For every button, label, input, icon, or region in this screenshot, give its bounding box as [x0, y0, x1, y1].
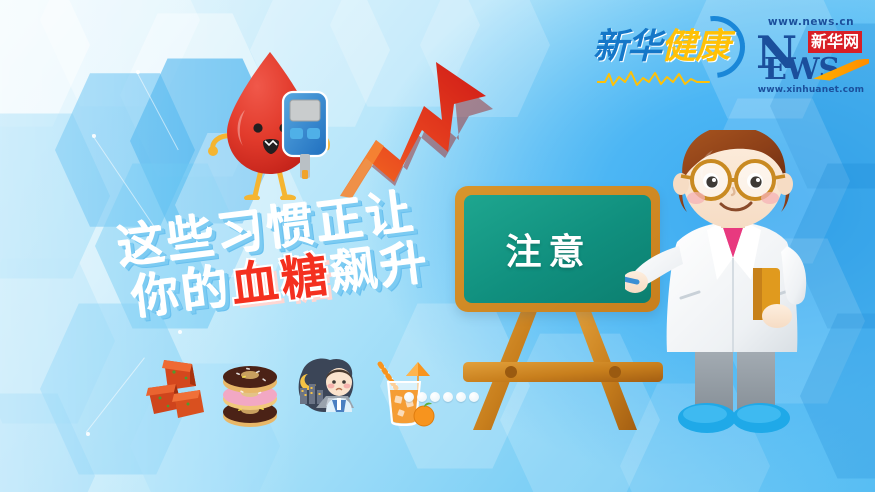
ellipsis-dots [404, 392, 479, 402]
donuts-icon [216, 354, 284, 432]
health-logo-text-blue: 新华 [593, 27, 661, 67]
ellipsis-dot [430, 392, 440, 402]
staying-up-late-icon [292, 354, 360, 432]
braised-pork-icon [140, 354, 208, 432]
ellipsis-dot [469, 392, 479, 402]
ellipsis-dot [443, 392, 453, 402]
news-cn-badge: 新华网 [808, 31, 862, 53]
cartoon-doctor [625, 130, 840, 440]
ellipsis-dot [417, 392, 427, 402]
blood-drop-character [205, 50, 345, 200]
poster-canvas: 新华健康 www.news.cn N EWS 新华网 www.xinhuanet… [0, 0, 875, 492]
brand-logos: 新华健康 www.news.cn N EWS 新华网 www.xinhuanet… [589, 14, 867, 100]
ellipsis-dot [456, 392, 466, 402]
xinhuanet-logo: www.news.cn N EWS 新华网 www.xinhuanet.com [755, 14, 867, 100]
health-logo-text-yellow: 健康 [661, 27, 729, 67]
xinhua-health-logo: 新华健康 [589, 14, 749, 94]
chalkboard-text: 注意 [505, 223, 591, 275]
ellipsis-dot [404, 392, 414, 402]
ecg-line-icon [597, 68, 717, 88]
